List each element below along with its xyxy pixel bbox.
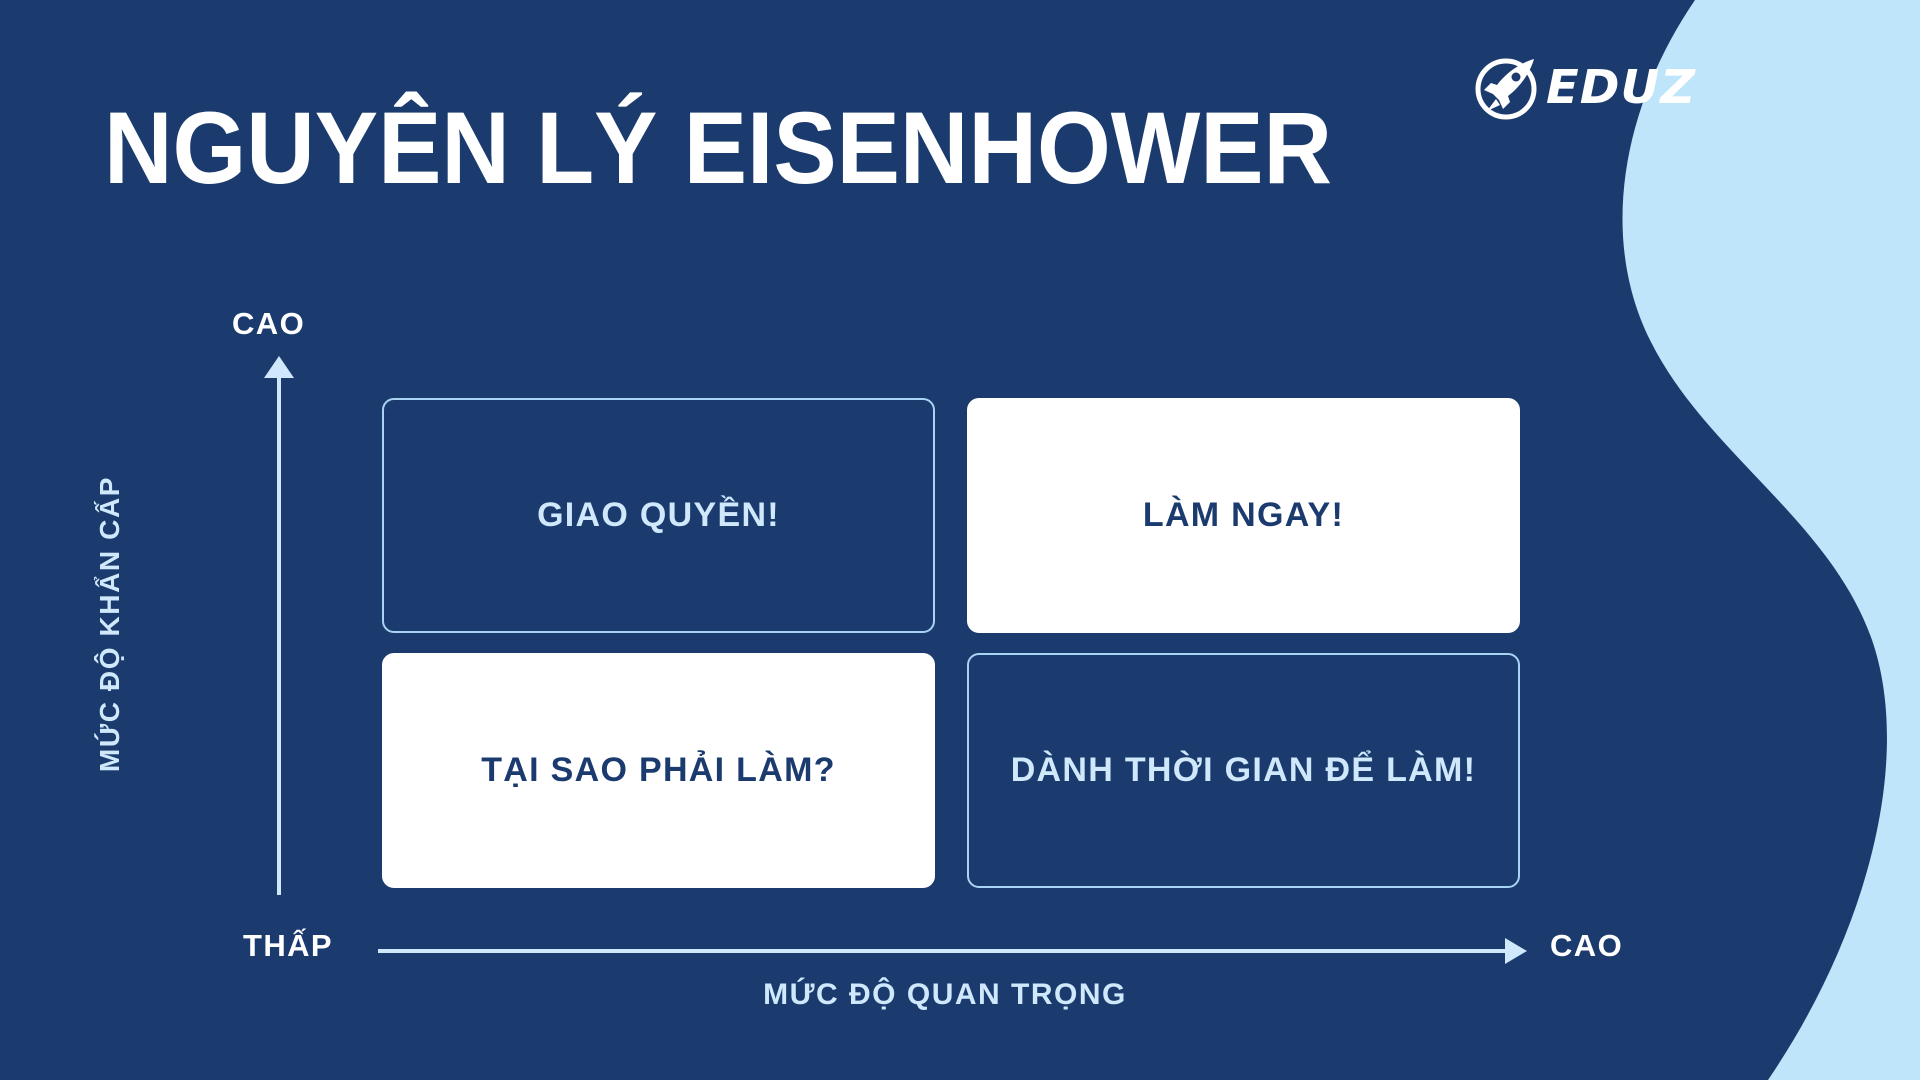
x-axis-low-label: THẤP xyxy=(243,928,333,964)
logo-wordmark: EDUZ xyxy=(1546,64,1696,110)
quadrant-label: TẠI SAO PHẢI LÀM? xyxy=(481,751,836,790)
y-axis-line xyxy=(277,363,281,895)
y-axis-title: MỨC ĐỘ KHẨN CẤP xyxy=(94,424,126,824)
quadrant-label: GIAO QUYỀN! xyxy=(537,496,780,535)
slide-canvas: EDUZ NGUYÊN LÝ EISENHOWER CAO MỨC ĐỘ KHẨ… xyxy=(0,0,1920,1080)
page-title: NGUYÊN LÝ EISENHOWER xyxy=(104,96,1332,200)
rocket-in-circle-icon xyxy=(1472,51,1544,123)
quadrant-do-now[interactable]: LÀM NGAY! xyxy=(967,398,1520,633)
s-curve-wave-shape xyxy=(1500,0,1920,1080)
eisenhower-matrix: GIAO QUYỀN! LÀM NGAY! TẠI SAO PHẢI LÀM? … xyxy=(382,398,1520,888)
quadrant-label: LÀM NGAY! xyxy=(1143,496,1344,535)
quadrant-label: DÀNH THỜI GIAN ĐỂ LÀM! xyxy=(1011,751,1477,790)
x-axis-line xyxy=(378,949,1508,953)
x-axis-high-label: CAO xyxy=(1550,928,1623,964)
quadrant-why[interactable]: TẠI SAO PHẢI LÀM? xyxy=(382,653,935,888)
quadrant-delegate[interactable]: GIAO QUYỀN! xyxy=(382,398,935,633)
quadrant-schedule[interactable]: DÀNH THỜI GIAN ĐỂ LÀM! xyxy=(967,653,1520,888)
y-axis-high-label: CAO xyxy=(232,306,305,342)
x-axis-title: MỨC ĐỘ QUAN TRỌNG xyxy=(380,978,1510,1012)
right-arrow-icon xyxy=(1505,938,1527,964)
brand-logo: EDUZ xyxy=(1472,50,1692,124)
